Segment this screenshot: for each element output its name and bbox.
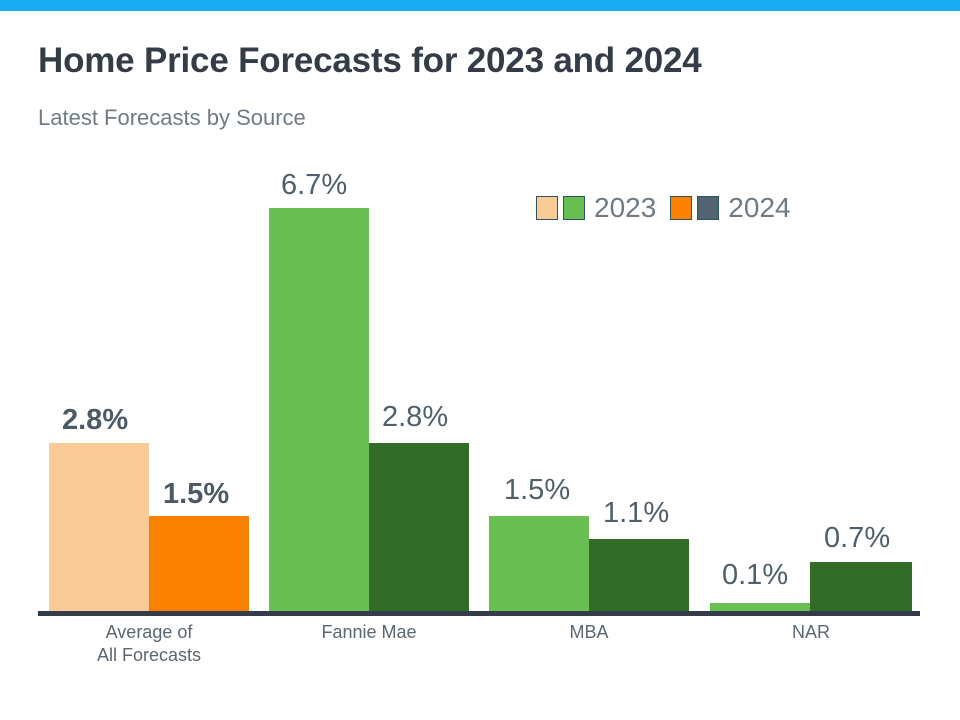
bar-average-2024[interactable] [149, 516, 249, 611]
bar-nar-2024-value-label: 0.7% [824, 522, 890, 554]
x-axis-line [38, 611, 920, 616]
bar-fanniemae-2023[interactable] [269, 208, 369, 611]
bar-average-2023[interactable] [49, 443, 149, 611]
cat-label-average: Average of All Forecasts [49, 621, 249, 667]
cat-label-fanniemae: Fannie Mae [269, 621, 469, 644]
plot-area: 2.8%1.5%6.7%2.8%1.5%1.1%0.1%0.7%Average … [0, 0, 960, 720]
bar-mba-2024[interactable] [589, 539, 689, 611]
cat-label-mba: MBA [489, 621, 689, 644]
bar-fanniemae-2024[interactable] [369, 443, 469, 611]
chart-page: Home Price Forecasts for 2023 and 2024 L… [0, 0, 960, 720]
bar-nar-2024[interactable] [810, 562, 912, 611]
bar-fanniemae-2023-value-label: 6.7% [281, 169, 347, 201]
bar-mba-2024-value-label: 1.1% [603, 497, 669, 529]
bar-mba-2023[interactable] [489, 516, 589, 611]
bar-nar-2023-value-label: 0.1% [722, 559, 788, 591]
bar-fanniemae-2024-value-label: 2.8% [382, 401, 448, 433]
cat-label-nar: NAR [710, 621, 912, 644]
bar-mba-2023-value-label: 1.5% [504, 474, 570, 506]
bar-average-2023-value-label: 2.8% [62, 404, 128, 436]
bar-average-2024-value-label: 1.5% [163, 478, 229, 510]
bar-nar-2023[interactable] [710, 603, 810, 611]
